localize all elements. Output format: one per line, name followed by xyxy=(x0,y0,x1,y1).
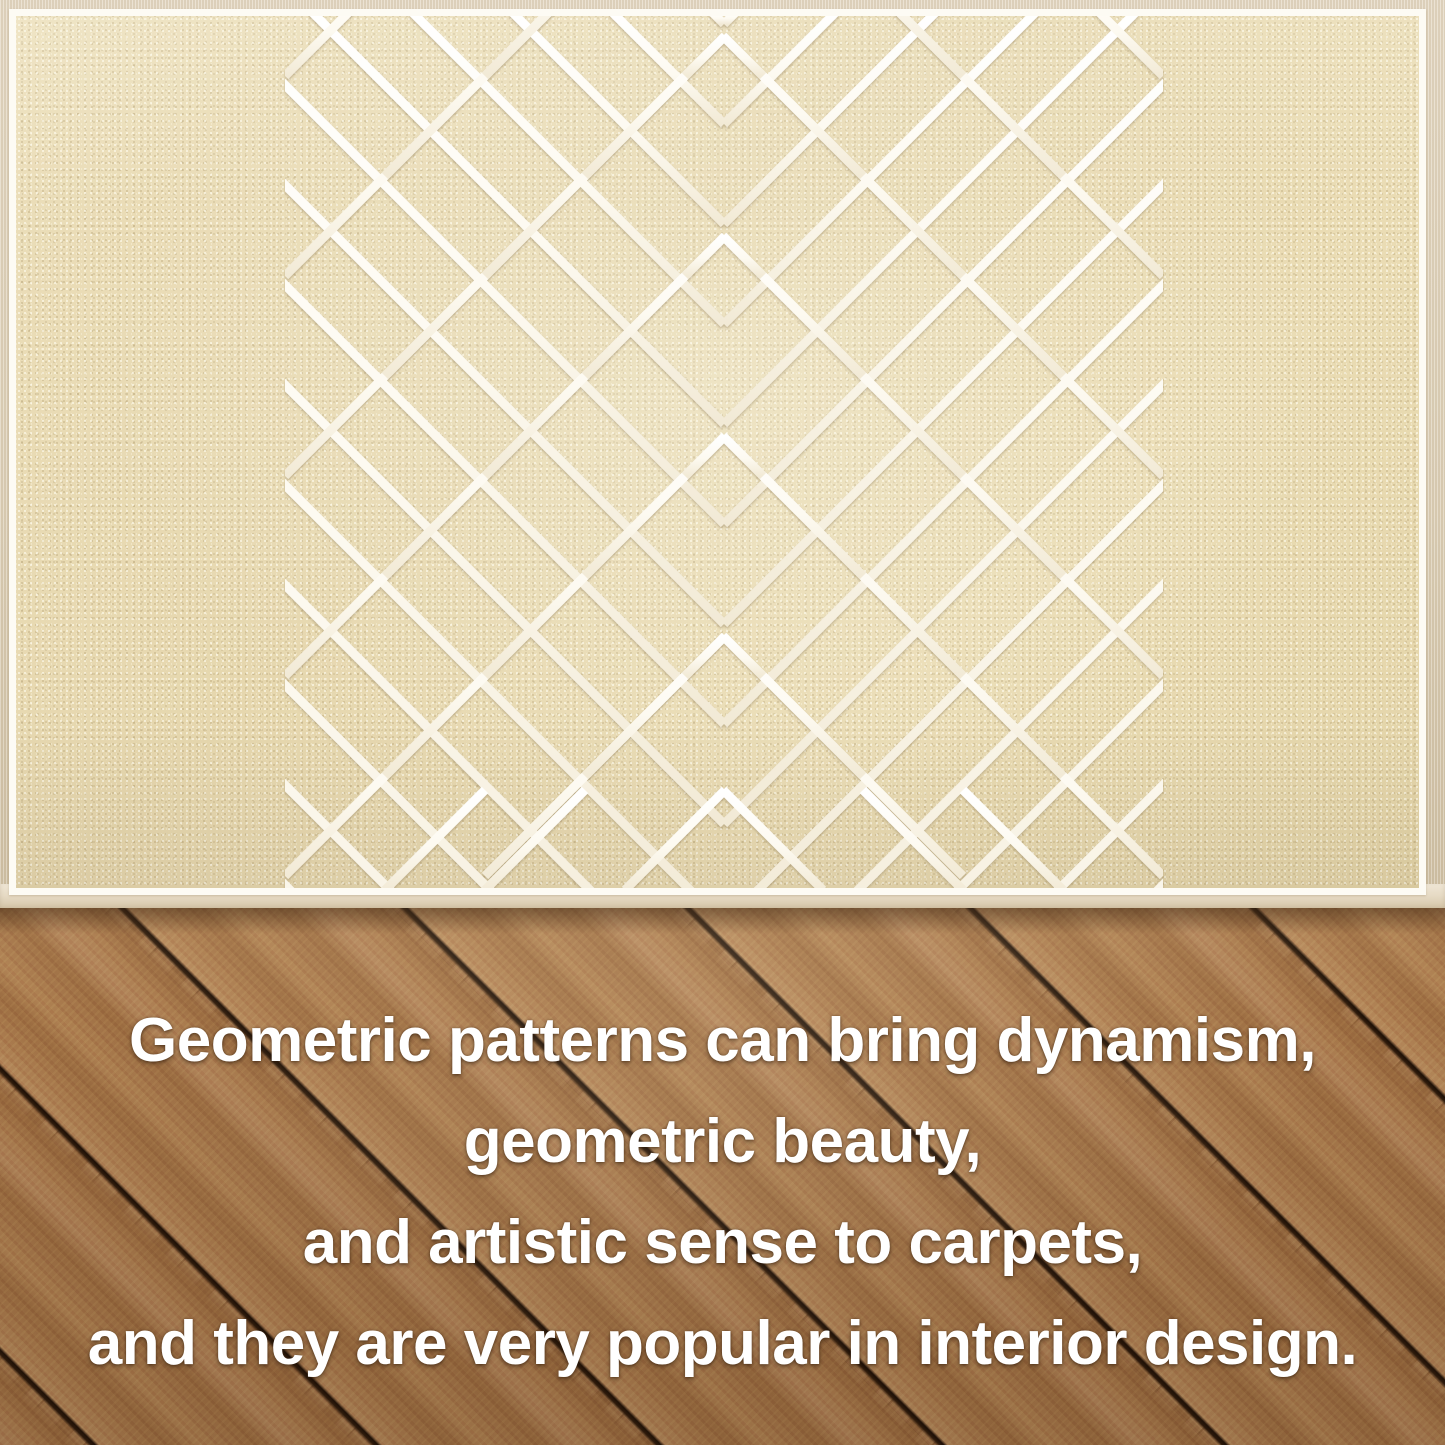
carpet-white-cord-pattern xyxy=(12,12,1421,890)
rug-panel xyxy=(0,0,1445,910)
right-border-stripes xyxy=(1163,12,1352,890)
left-border-stripes xyxy=(95,12,285,890)
product-image-stage: Geometric patterns can bring dynamism, g… xyxy=(0,0,1445,1445)
wood-floor-panel xyxy=(0,908,1445,1445)
rug-carpet-face xyxy=(12,12,1421,890)
wood-grain-overlay xyxy=(0,908,1445,1445)
chevron-field xyxy=(12,12,1421,890)
